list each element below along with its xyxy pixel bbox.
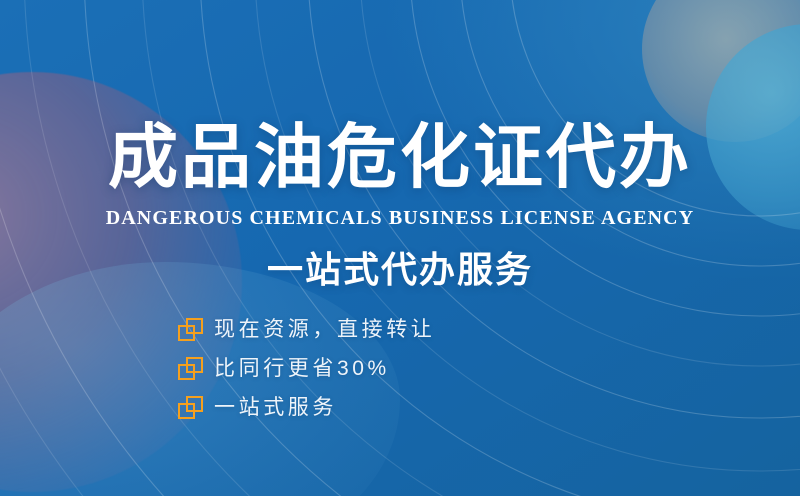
feature-list: 现在资源，直接转让 比同行更省30% 一站式服务 xyxy=(178,316,435,422)
list-item-label: 比同行更省30% xyxy=(214,356,390,382)
page-title-english: DANGEROUS CHEMICALS BUSINESS LICENSE AGE… xyxy=(0,205,800,231)
list-item: 比同行更省30% xyxy=(178,355,435,383)
promo-banner: 成品油危化证代办 DANGEROUS CHEMICALS BUSINESS LI… xyxy=(0,0,800,496)
banner-content: 成品油危化证代办 DANGEROUS CHEMICALS BUSINESS LI… xyxy=(0,0,800,496)
list-item: 一站式服务 xyxy=(178,394,435,422)
list-item-label: 现在资源，直接转让 xyxy=(214,317,435,343)
list-item: 现在资源，直接转让 xyxy=(178,316,435,344)
overlapping-squares-icon xyxy=(178,318,203,342)
overlapping-squares-icon xyxy=(178,396,203,420)
list-item-label: 一站式服务 xyxy=(214,395,337,421)
page-title: 成品油危化证代办 xyxy=(0,118,800,196)
page-subtitle: 一站式代办服务 xyxy=(0,247,800,293)
overlapping-squares-icon xyxy=(178,357,203,381)
